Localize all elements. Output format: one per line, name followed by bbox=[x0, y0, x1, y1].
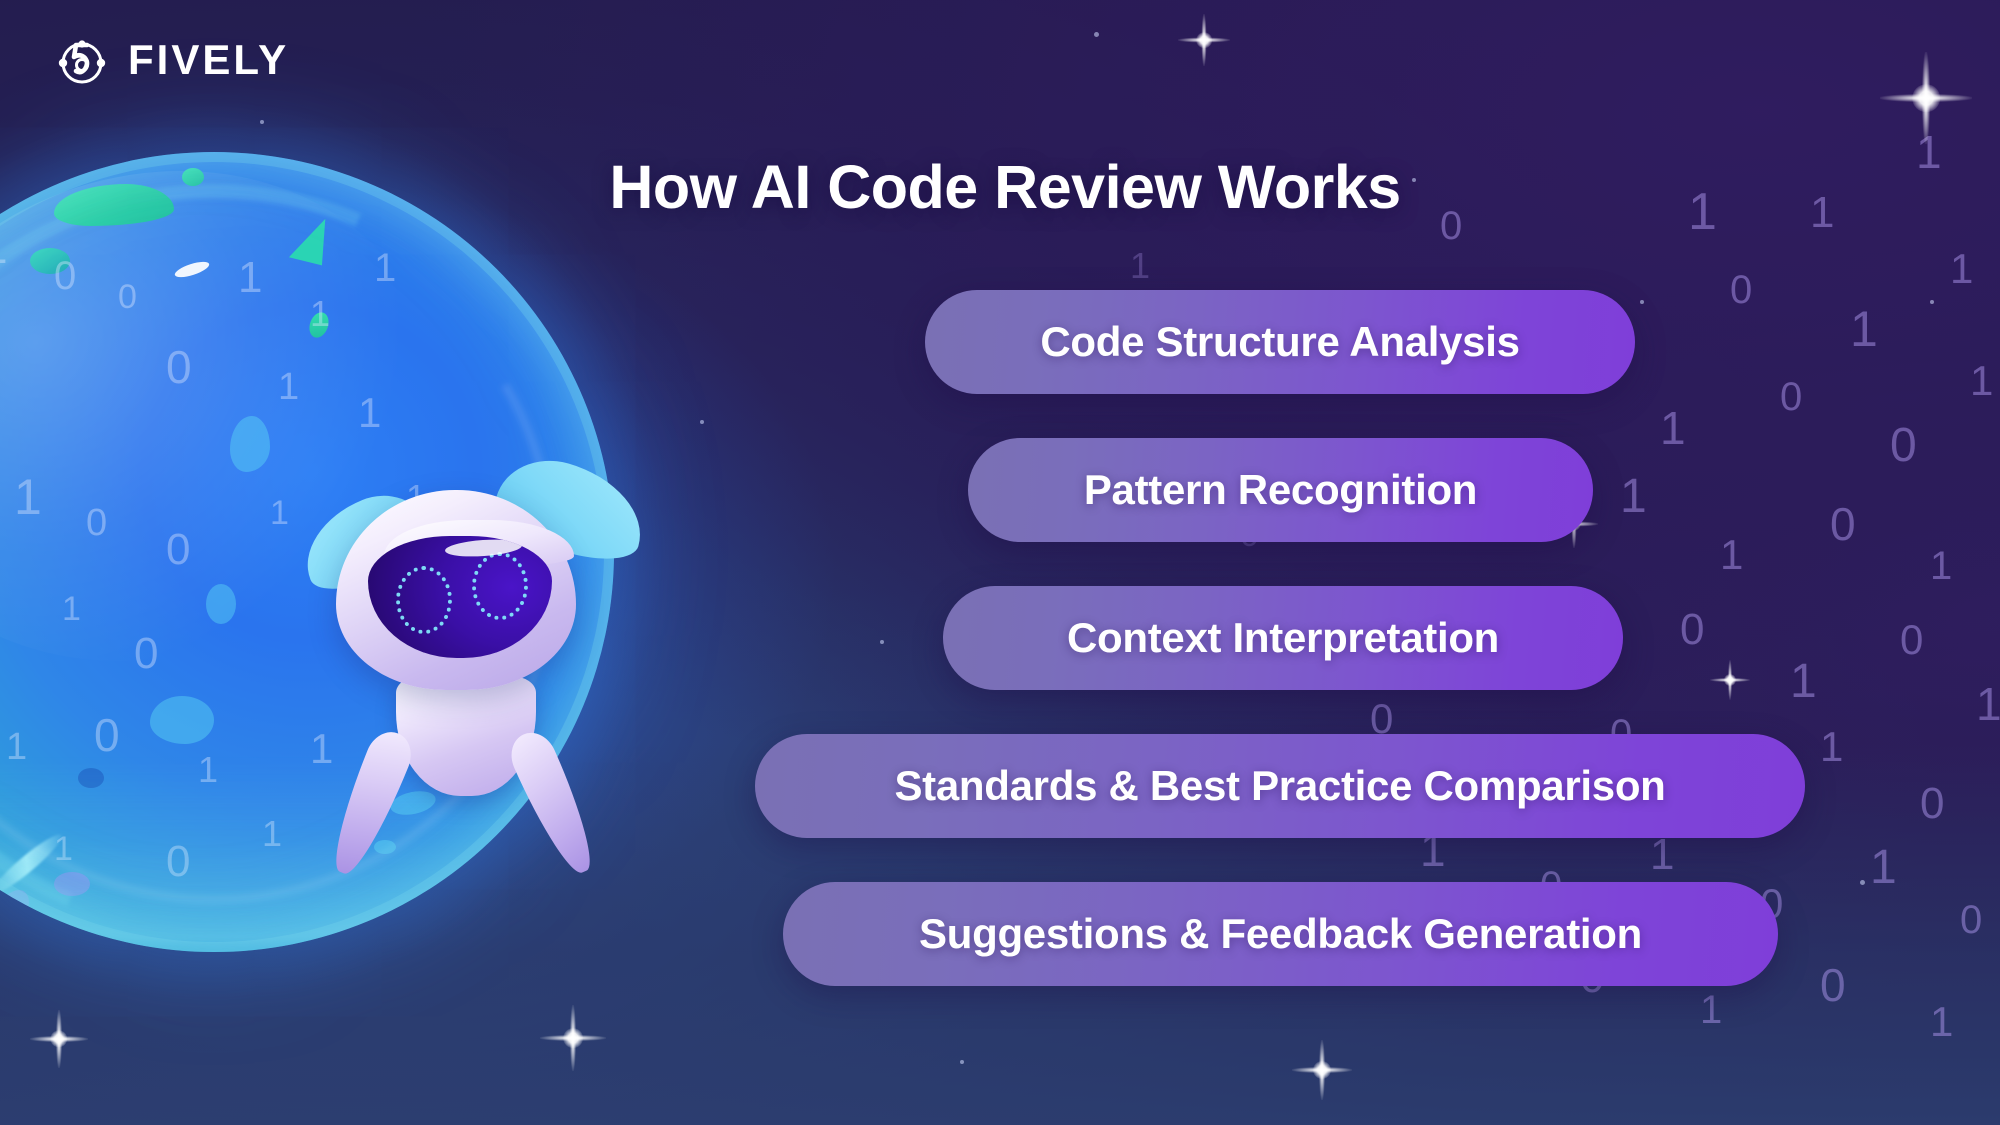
step-row: Pattern Recognition bbox=[0, 438, 2000, 542]
step-row: Code Structure Analysis bbox=[0, 290, 2000, 394]
brand-wordmark: FIVELY bbox=[128, 39, 289, 81]
brand-logo[interactable]: FIVELY bbox=[54, 32, 289, 88]
step-row: Standards & Best Practice Comparison bbox=[0, 734, 2000, 838]
step-label: Pattern Recognition bbox=[1084, 466, 1477, 514]
step-label: Code Structure Analysis bbox=[1040, 318, 1519, 366]
fively-orbit-5-icon bbox=[54, 32, 110, 88]
steps-list: Code Structure Analysis Pattern Recognit… bbox=[0, 290, 2000, 1030]
step-row: Context Interpretation bbox=[0, 586, 2000, 690]
step-pill-pattern-recognition[interactable]: Pattern Recognition bbox=[968, 438, 1593, 542]
step-pill-suggestions-feedback-generation[interactable]: Suggestions & Feedback Generation bbox=[783, 882, 1778, 986]
step-label: Suggestions & Feedback Generation bbox=[919, 910, 1642, 958]
step-pill-context-interpretation[interactable]: Context Interpretation bbox=[943, 586, 1623, 690]
step-label: Standards & Best Practice Comparison bbox=[894, 762, 1665, 810]
infographic-canvas: 1 0 0 1 1 1 1 0 1 1 0 1 0 0 1 0 1 1 0 1 bbox=[0, 0, 2000, 1125]
step-row: Suggestions & Feedback Generation bbox=[0, 882, 2000, 986]
step-label: Context Interpretation bbox=[1067, 614, 1499, 662]
step-pill-standards-best-practice-comparison[interactable]: Standards & Best Practice Comparison bbox=[755, 734, 1805, 838]
page-title: How AI Code Review Works bbox=[500, 155, 1510, 219]
step-pill-code-structure-analysis[interactable]: Code Structure Analysis bbox=[925, 290, 1635, 394]
